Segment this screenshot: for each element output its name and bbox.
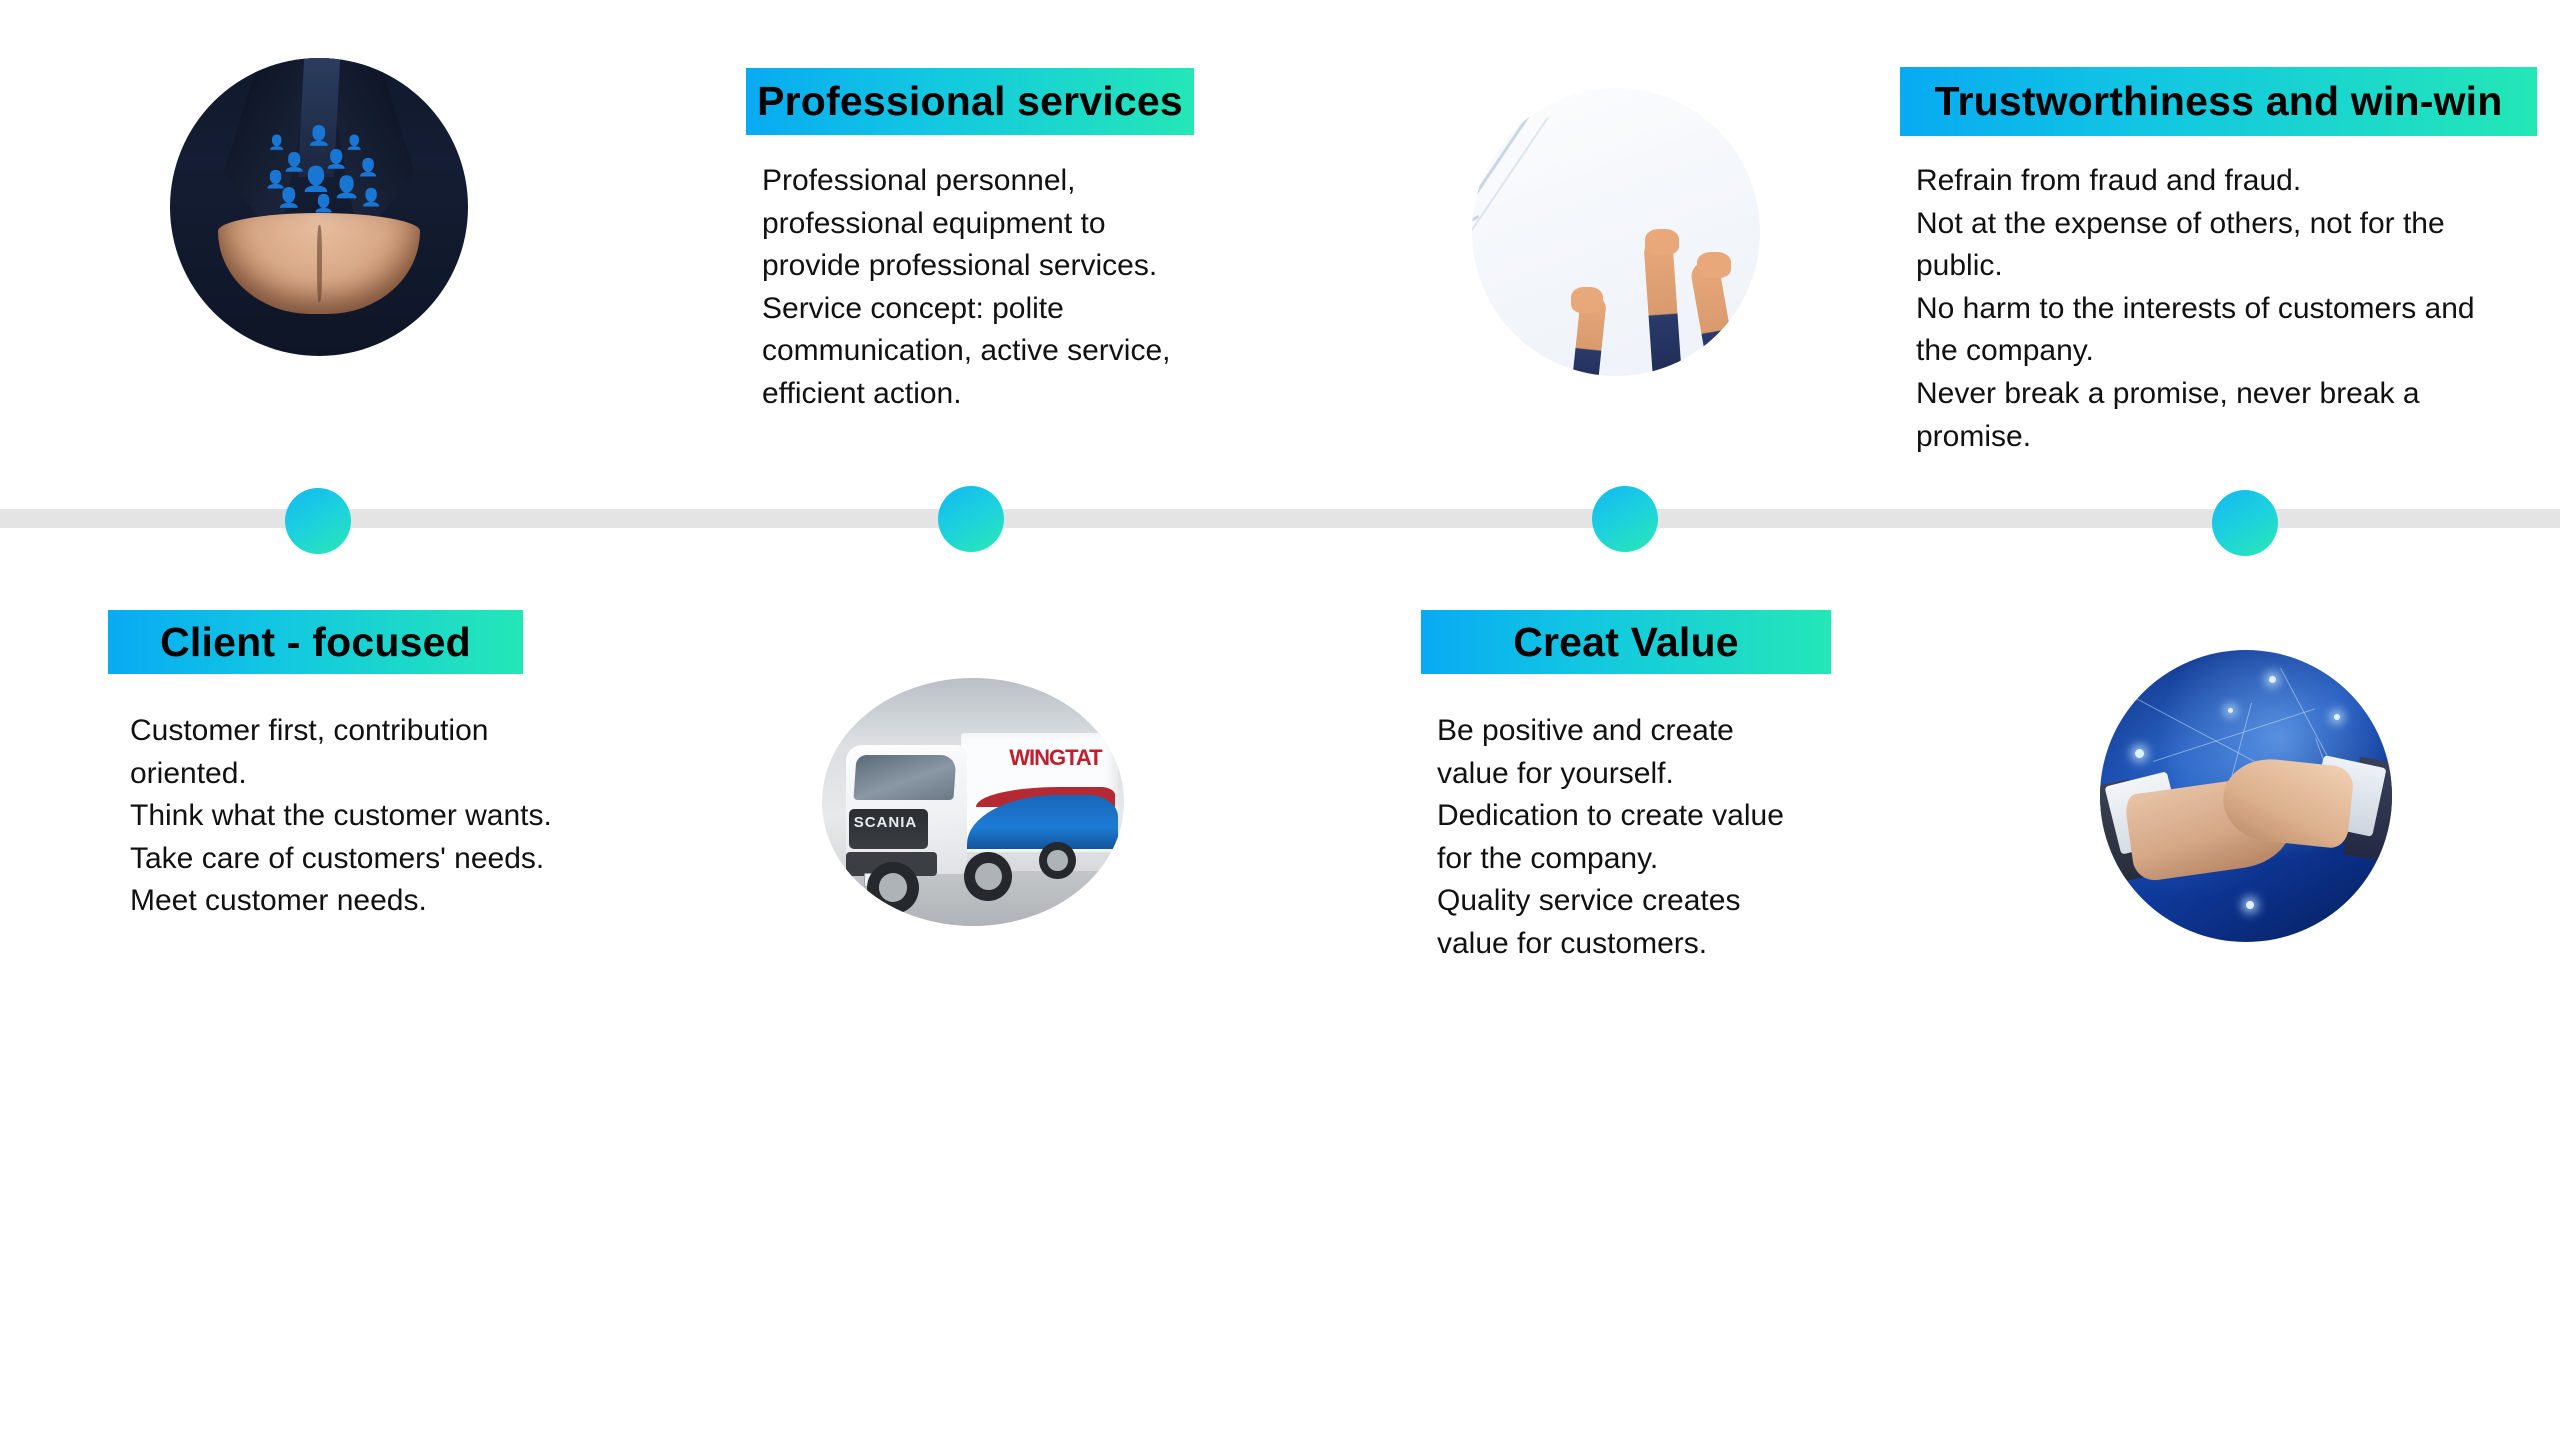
person-icon: 👤 xyxy=(358,159,379,176)
photo-delivery-truck: WINGTAT SCANIA xyxy=(822,678,1124,926)
card-title-text: Professional services xyxy=(757,81,1183,122)
fist-shape xyxy=(1697,252,1732,278)
truck-brand-text: SCANIA xyxy=(854,814,918,831)
card-body-client-focused: Customer first, contribution oriented. T… xyxy=(130,710,610,923)
truck-wheel-shape xyxy=(1039,842,1075,879)
truck-livery-logo-text: WINGTAT xyxy=(1009,745,1101,771)
card-title-text: Creat Value xyxy=(1513,622,1739,663)
card-title-trustworthiness[interactable]: Trustworthiness and win-win xyxy=(1900,67,2537,136)
person-icon: 👤 xyxy=(346,135,363,149)
truck-wheel-shape xyxy=(964,852,1012,902)
timeline-dot-4[interactable] xyxy=(2212,490,2278,556)
card-title-text: Trustworthiness and win-win xyxy=(1934,81,2502,122)
fist-shape xyxy=(1571,287,1603,313)
person-icon: 👤 xyxy=(268,135,285,149)
truck-wheel-shape xyxy=(867,862,918,914)
network-node-shape xyxy=(2228,708,2233,713)
timeline-dot-1[interactable] xyxy=(285,488,351,554)
photo-people-in-hands: 👤 👤 👤 👤 👤 👤 👤 👤 👤 👤 👤 👤 xyxy=(170,58,468,356)
card-body-creat-value: Be positive and create value for yoursel… xyxy=(1437,710,1857,966)
network-node-shape xyxy=(2135,749,2144,758)
card-title-client-focused[interactable]: Client - focused xyxy=(108,610,523,674)
card-title-creat-value[interactable]: Creat Value xyxy=(1421,610,1831,674)
person-icon: 👤 xyxy=(361,189,382,206)
network-node-shape xyxy=(2334,714,2340,720)
truck-windshield-shape xyxy=(854,755,957,800)
person-icon: 👤 xyxy=(307,127,331,146)
timeline-bar xyxy=(0,509,2560,528)
card-body-trustworthiness: Refrain from fraud and fraud. Not at the… xyxy=(1916,160,2556,458)
network-line-shape xyxy=(2153,708,2315,761)
card-title-professional-services[interactable]: Professional services xyxy=(746,68,1194,135)
raised-arm-shape xyxy=(1643,237,1681,376)
person-icon: 👤 xyxy=(277,189,301,208)
timeline-dot-3[interactable] xyxy=(1592,486,1658,552)
photo-raised-fists xyxy=(1472,88,1760,376)
timeline-dot-2[interactable] xyxy=(938,486,1004,552)
card-body-professional-services: Professional personnel, professional equ… xyxy=(762,160,1212,416)
photo-handshake-network xyxy=(2100,650,2392,942)
card-title-text: Client - focused xyxy=(160,622,471,663)
hand-split-shape xyxy=(317,225,322,302)
network-node-shape xyxy=(2246,901,2254,909)
person-icon: 👤 xyxy=(301,168,331,192)
person-icon: 👤 xyxy=(265,171,286,188)
person-icon: 👤 xyxy=(313,195,334,212)
network-node-shape xyxy=(2269,676,2276,683)
fist-shape xyxy=(1645,229,1680,255)
person-icon: 👤 xyxy=(334,177,360,198)
wall-line-shape xyxy=(1472,111,1532,280)
